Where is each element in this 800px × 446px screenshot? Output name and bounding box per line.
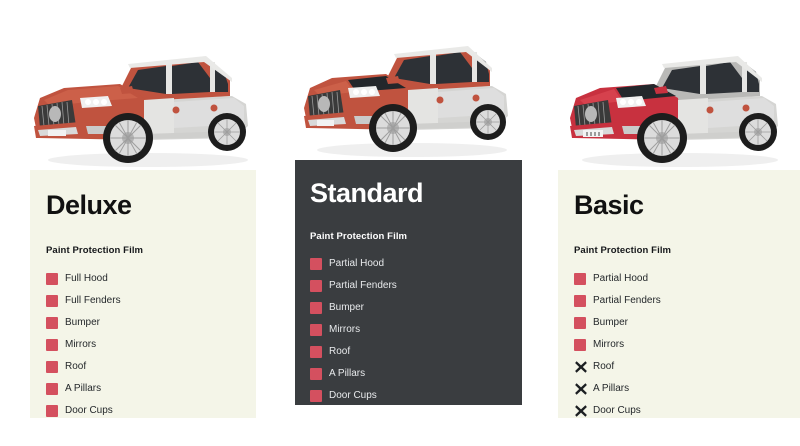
swatch [310,302,322,314]
red-square-icon [46,361,65,373]
red-square-icon [310,346,329,358]
feature-row: Full Fenders [46,290,256,312]
suv-illustration [296,18,528,164]
red-square-icon [574,273,593,285]
vehicle-image-deluxe [24,26,272,174]
feature-row: Mirrors [46,334,256,356]
suv-illustration [24,26,272,174]
swatch [574,317,586,329]
red-square-icon [310,258,329,270]
feature-label: Bumper [65,318,100,328]
feature-label: A Pillars [593,384,629,394]
feature-row: Partial Fenders [310,275,522,297]
swatch [46,317,58,329]
red-square-icon [310,324,329,336]
x-mark-icon [574,404,593,418]
swatch [46,361,58,373]
feature-label: Roof [65,362,86,372]
red-square-icon [310,280,329,292]
red-square-icon [310,302,329,314]
feature-label: Mirrors [329,325,360,335]
section-label-standard: Paint Protection Film [295,207,522,242]
feature-row: Door Cups [46,400,256,422]
feature-row: Partial Fenders [574,290,800,312]
feature-label: Full Hood [65,274,108,284]
feature-list-standard: Partial HoodPartial FendersBumperMirrors… [295,242,522,407]
suv-illustration [560,26,800,174]
feature-label: Door Cups [593,406,641,416]
red-square-icon [46,383,65,395]
red-square-icon [574,317,593,329]
swatch [46,383,58,395]
feature-row: Door Cups [574,400,800,422]
swatch [574,295,586,307]
swatch [46,273,58,285]
red-square-icon [574,339,593,351]
tier-title-standard: Standard [295,160,522,207]
tier-title-deluxe: Deluxe [30,170,256,219]
feature-row: Mirrors [310,319,522,341]
swatch [310,258,322,270]
feature-label: Partial Fenders [329,281,397,291]
feature-row: A Pillars [574,378,800,400]
swatch [574,339,586,351]
tier-card-basic: Basic Paint Protection Film Partial Hood… [558,170,800,418]
feature-list-deluxe: Full HoodFull FendersBumperMirrorsRoofA … [30,256,256,422]
swatch [310,368,322,380]
feature-label: Partial Hood [329,259,384,269]
tier-card-deluxe: Deluxe Paint Protection Film Full HoodFu… [30,170,256,418]
feature-label: Bumper [593,318,628,328]
red-square-icon [46,295,65,307]
swatch [310,346,322,358]
red-square-icon [310,368,329,380]
feature-row: Partial Hood [574,268,800,290]
feature-label: Partial Hood [593,274,648,284]
feature-label: A Pillars [329,369,365,379]
red-square-icon [46,317,65,329]
swatch [574,273,586,285]
feature-label: Roof [593,362,614,372]
feature-row: Door Cups [310,385,522,407]
feature-row: Bumper [46,312,256,334]
feature-label: Mirrors [593,340,624,350]
feature-row: Bumper [310,297,522,319]
red-square-icon [574,295,593,307]
feature-row: A Pillars [310,363,522,385]
vehicle-image-standard [296,18,528,164]
feature-row: Bumper [574,312,800,334]
red-square-icon [46,339,65,351]
swatch [46,295,58,307]
feature-list-basic: Partial HoodPartial FendersBumperMirrors… [558,256,800,422]
feature-row: Roof [574,356,800,378]
feature-row: Roof [46,356,256,378]
red-square-icon [310,390,329,402]
feature-row: A Pillars [46,378,256,400]
feature-label: Roof [329,347,350,357]
feature-label: Full Fenders [65,296,121,306]
swatch [46,339,58,351]
tier-card-standard: Standard Paint Protection Film Partial H… [295,160,522,405]
feature-row: Mirrors [574,334,800,356]
x-mark-icon [574,360,593,374]
feature-row: Roof [310,341,522,363]
feature-label: Door Cups [65,406,113,416]
red-square-icon [46,405,65,417]
feature-label: A Pillars [65,384,101,394]
feature-label: Bumper [329,303,364,313]
feature-label: Mirrors [65,340,96,350]
section-label-deluxe: Paint Protection Film [30,219,256,256]
section-label-basic: Paint Protection Film [558,219,800,256]
feature-label: Partial Fenders [593,296,661,306]
feature-row: Partial Hood [310,253,522,275]
swatch [310,280,322,292]
tier-title-basic: Basic [558,170,800,219]
swatch [310,390,322,402]
vehicle-image-basic [560,26,800,174]
feature-row: Full Hood [46,268,256,290]
red-square-icon [46,273,65,285]
swatch [46,405,58,417]
feature-label: Door Cups [329,391,377,401]
x-mark-icon [574,382,593,396]
swatch [310,324,322,336]
